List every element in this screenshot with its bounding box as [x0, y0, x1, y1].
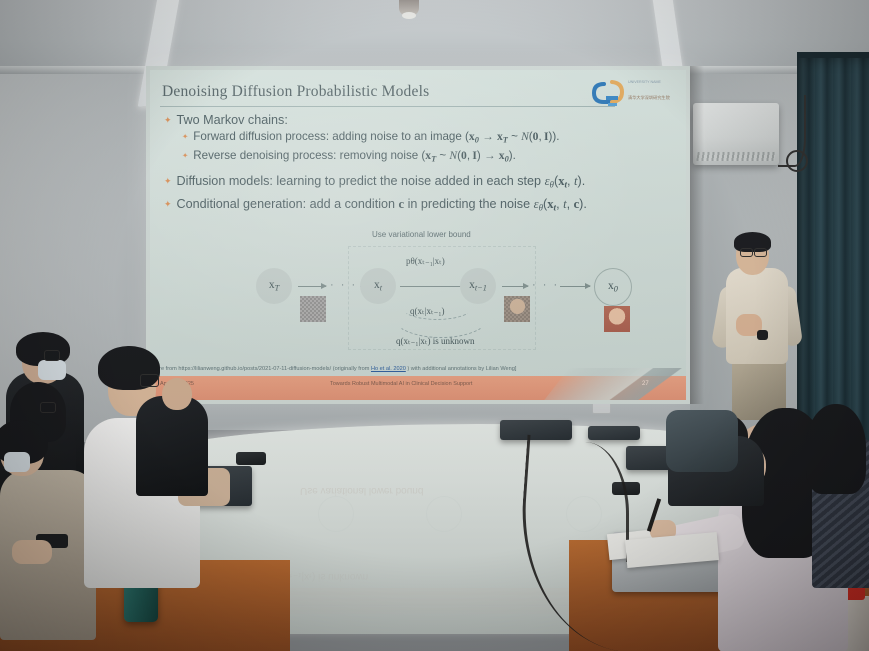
diamond-bullet-icon: ✦ [182, 129, 188, 144]
bullet-text: Reverse denoising process: removing nois… [193, 148, 516, 166]
node-label: xt−1 [469, 279, 487, 292]
air-conditioner-vent [696, 152, 776, 161]
screen-edge-shadow [690, 66, 704, 404]
source-link[interactable]: Ho et al. 2020 [371, 366, 406, 372]
head [162, 378, 192, 410]
logo-text-line1: UNIVERSITY NAME [628, 80, 661, 86]
ellipsis: · · · [330, 279, 357, 291]
diagram-node-xT: xT [256, 268, 292, 304]
smoke-detector-icon [399, 0, 419, 16]
node-label: x0 [608, 280, 618, 293]
source-note-tail: ) with additional annotations by Lilian … [407, 366, 516, 372]
slide-content: Denoising Diffusion Probabilistic Models… [150, 70, 686, 400]
face-mask [4, 452, 30, 472]
slide-page-number: 27 [642, 381, 649, 387]
face-mask [38, 360, 66, 380]
diffusion-diagram: Use variational lower bound xT · · · xt … [160, 230, 676, 360]
thumbnail-clear-face [604, 306, 630, 332]
thumbnail-partial-face [504, 296, 530, 322]
diamond-bullet-icon: ✦ [164, 173, 172, 189]
ellipsis: · · · [532, 279, 559, 291]
slide-title: Denoising Diffusion Probabilistic Models [162, 83, 429, 101]
screenshot-root: Denoising Diffusion Probabilistic Models… [0, 0, 869, 651]
bullet-text: Conditional generation: add a condition … [177, 196, 587, 216]
source-note-text: ure from https://lilianweng.github.io/po… [156, 366, 369, 372]
node-label: xt [374, 279, 382, 292]
bullet-item: ✦ Reverse denoising process: removing no… [182, 148, 634, 166]
diagram-node-x0: x0 [594, 268, 632, 306]
diagram-caption: Use variational lower bound [372, 230, 471, 239]
bullet-item: ✦ Diffusion models: learning to predict … [164, 173, 634, 193]
glasses-icon [740, 248, 753, 257]
diamond-bullet-icon: ✦ [182, 148, 188, 163]
bullet-item: ✦ Two Markov chains: [164, 112, 634, 128]
logo-text-line2: 清华大学深圳研究生院 [628, 95, 670, 101]
bullet-item: ✦ Forward diffusion process: adding nois… [182, 129, 634, 147]
torso [136, 396, 208, 496]
ceiling [0, 0, 869, 72]
footer-title: Towards Robust Multimodal AI in Clinical… [330, 381, 472, 387]
glasses-icon [754, 248, 767, 257]
diagram-node-xt: xt [360, 268, 396, 304]
arrow-right [298, 286, 326, 287]
unknown-curve [392, 294, 490, 338]
footer-swoosh-decoration [543, 368, 686, 400]
hair [806, 404, 866, 494]
thumbnail-noise-patch [300, 296, 326, 322]
title-divider [160, 106, 615, 107]
bullet-text: Diffusion models: learning to predict th… [177, 173, 586, 193]
unknown-label: q(xₜ₋₁|xₜ) is unknown [396, 336, 475, 347]
university-logo: UNIVERSITY NAME 清华大学深圳研究生院 [586, 76, 682, 114]
glasses-icon [40, 402, 56, 413]
forward-prob-label: pθ(xₜ₋₁|xₜ) [406, 256, 445, 267]
laptop [588, 426, 640, 440]
bullet-item: ✦ Conditional generation: add a conditio… [164, 196, 634, 216]
hand [12, 540, 52, 564]
arrow-right [502, 286, 528, 287]
glasses-icon [44, 350, 60, 361]
diamond-bullet-icon: ✦ [164, 112, 172, 128]
arrow-right [560, 286, 590, 287]
smartphone [236, 452, 266, 465]
node-label: xT [269, 279, 279, 292]
slide-bullet-list: ✦ Two Markov chains: ✦ Forward diffusion… [164, 112, 634, 217]
bullet-text: Two Markov chains: [177, 112, 288, 128]
backpack [666, 410, 738, 472]
wristwatch [757, 330, 768, 340]
ac-cable-coil [786, 150, 808, 172]
glasses-icon [140, 374, 159, 387]
bullet-text: Forward diffusion process: adding noise … [193, 129, 559, 147]
diamond-bullet-icon: ✦ [164, 196, 172, 212]
